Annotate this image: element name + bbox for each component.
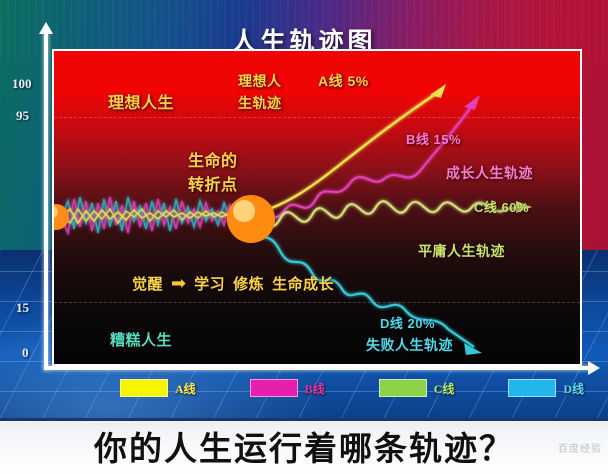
label-path-awaken: 觉醒 [132, 273, 163, 294]
watermark: 百度经验 [558, 440, 602, 455]
chart-plot-area: 理想人生 理想人 生轨迹 A线 5% B线 15% 成长人生轨迹 C线 60% … [52, 49, 582, 366]
x-axis-line [44, 366, 592, 370]
legend-swatch-b [250, 379, 298, 397]
legend-item-a[interactable]: A线 [120, 379, 196, 397]
label-bad-life: 糟糕人生 [110, 329, 172, 350]
label-ideal-track-line1: 理想人 [238, 71, 282, 91]
label-a-line-share: A线 5% [318, 71, 369, 91]
legend-swatch-d [508, 379, 556, 397]
legend-label-b: B线 [305, 380, 325, 397]
life-trajectory-infographic: 人生轨迹图 100 95 15 0 [0, 0, 608, 474]
y-tick-100: 100 [12, 76, 32, 92]
legend-item-b[interactable]: B线 [250, 379, 325, 397]
label-path-study: 学习 [194, 273, 225, 294]
label-d-line-share: D线 20% [380, 313, 435, 332]
y-tick-95: 95 [16, 108, 29, 124]
chart-legend: A线 B线 C线 D线 [120, 378, 590, 398]
right-arrow-icon: ➡ [171, 273, 186, 294]
y-axis-line [44, 30, 48, 370]
label-growth-track: 成长人生轨迹 [446, 163, 533, 183]
y-tick-0: 0 [22, 345, 29, 361]
label-path-growth: 生命成长 [272, 273, 334, 294]
label-b-line-share: B线 15% [406, 129, 461, 148]
label-path-practice: 修炼 [233, 273, 264, 294]
y-tick-15: 15 [16, 300, 29, 316]
chart-plot-inner: 理想人生 理想人 生轨迹 A线 5% B线 15% 成长人生轨迹 C线 60% … [54, 51, 580, 364]
label-fail-track: 失败人生轨迹 [366, 335, 453, 355]
legend-item-c[interactable]: C线 [379, 379, 455, 397]
legend-swatch-c [379, 379, 427, 397]
label-mediocre-track: 平庸人生轨迹 [418, 241, 505, 261]
y-axis-arrow-icon [39, 22, 53, 34]
legend-swatch-a [120, 379, 168, 397]
label-turning-point-line1: 生命的 [188, 147, 238, 171]
chaos-segment [62, 197, 246, 233]
d-line-arrow-icon [464, 343, 482, 355]
label-turning-point-line2: 转折点 [188, 171, 238, 195]
caption-text: 你的人生运行着哪条轨迹？ [0, 420, 608, 472]
label-c-line-share: C线 60% [474, 197, 529, 216]
label-ideal-track-line2: 生轨迹 [238, 93, 282, 113]
legend-item-d[interactable]: D线 [508, 379, 584, 397]
b-line-arrow-icon [464, 95, 480, 110]
legend-label-c: C线 [434, 380, 455, 397]
turning-point-sphere-highlight [233, 200, 255, 222]
legend-label-a: A线 [175, 380, 196, 397]
growth-path-row: 觉醒 ➡ 学习 修炼 生命成长 [132, 273, 334, 294]
x-axis-arrow-icon [588, 361, 600, 375]
label-ideal-life: 理想人生 [108, 89, 174, 113]
legend-label-d: D线 [563, 380, 584, 397]
